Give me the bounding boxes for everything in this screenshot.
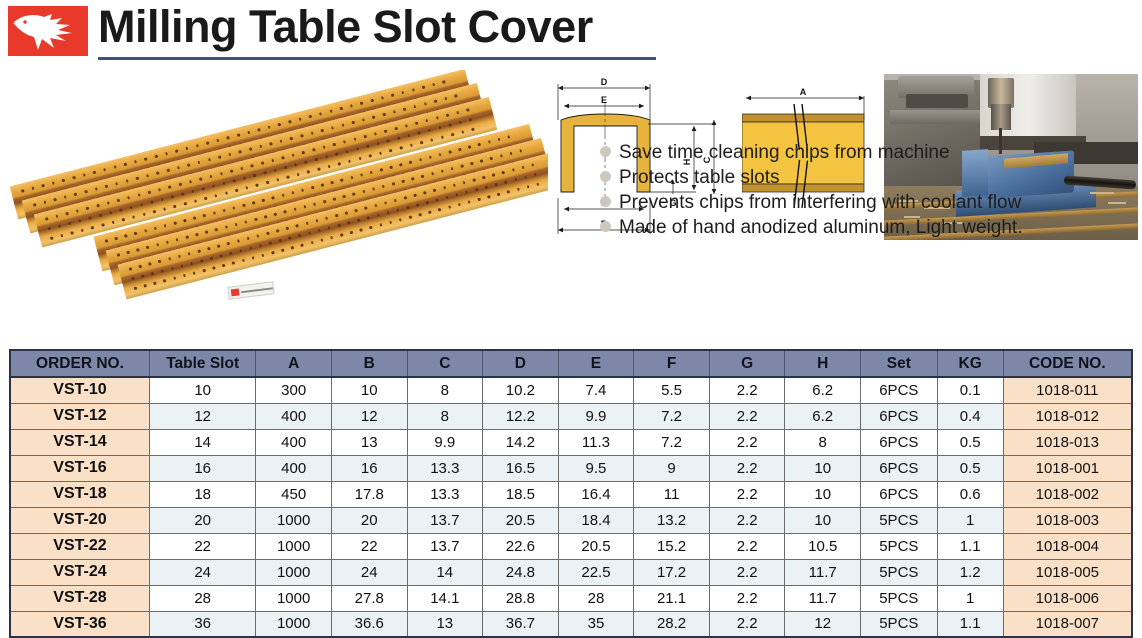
cell-g: 2.2 — [709, 585, 785, 611]
cell-set: 5PCS — [861, 585, 938, 611]
cell-slot: 28 — [149, 585, 255, 611]
cell-kg: 1.2 — [937, 559, 1003, 585]
table-row[interactable]: VST-181845017.813.318.516.4112.2106PCS0.… — [10, 481, 1132, 507]
col-header-c: C — [407, 350, 483, 377]
cell-d: 28.8 — [483, 585, 559, 611]
cell-c: 13 — [407, 611, 483, 637]
list-item: Protects table slots — [600, 167, 1140, 191]
table-row[interactable]: VST-202010002013.720.518.413.22.2105PCS1… — [10, 507, 1132, 533]
cell-e: 9.9 — [558, 403, 634, 429]
cell-set: 6PCS — [861, 429, 938, 455]
cell-set: 6PCS — [861, 403, 938, 429]
cell-a: 450 — [256, 481, 332, 507]
cell-e: 16.4 — [558, 481, 634, 507]
table-row[interactable]: VST-1414400139.914.211.37.22.286PCS0.510… — [10, 429, 1132, 455]
cell-set: 6PCS — [861, 455, 938, 481]
cell-code: 1018-003 — [1003, 507, 1132, 533]
cell-slot: 24 — [149, 559, 255, 585]
col-header-g: G — [709, 350, 785, 377]
specification-table: ORDER NO. Table Slot A B C D E F G H Set… — [9, 349, 1133, 638]
cell-e: 35 — [558, 611, 634, 637]
cell-h: 10.5 — [785, 533, 861, 559]
table-row[interactable]: VST-101030010810.27.45.52.26.26PCS0.1101… — [10, 377, 1132, 403]
cell-code: 1018-013 — [1003, 429, 1132, 455]
feature-text: Save time cleaning chips from machine — [619, 142, 950, 164]
cell-kg: 0.5 — [937, 429, 1003, 455]
cell-g: 2.2 — [709, 403, 785, 429]
cell-a: 400 — [256, 455, 332, 481]
table-row[interactable]: VST-16164001613.316.59.592.2106PCS0.5101… — [10, 455, 1132, 481]
cell-b: 24 — [331, 559, 407, 585]
cell-code: 1018-004 — [1003, 533, 1132, 559]
cell-h: 11.7 — [785, 585, 861, 611]
feature-list: Save time cleaning chips from machine Pr… — [600, 142, 1140, 242]
page-title: Milling Table Slot Cover — [98, 0, 1142, 54]
bullet-dot-icon — [600, 221, 611, 232]
table-row[interactable]: VST-2828100027.814.128.82821.12.211.75PC… — [10, 585, 1132, 611]
cell-g: 2.2 — [709, 507, 785, 533]
feature-text: Made of hand anodized aluminum, Light we… — [619, 217, 1022, 239]
cell-b: 12 — [331, 403, 407, 429]
cell-a: 1000 — [256, 611, 332, 637]
cell-b: 22 — [331, 533, 407, 559]
table-row[interactable]: VST-222210002213.722.620.515.22.210.55PC… — [10, 533, 1132, 559]
cell-code: 1018-007 — [1003, 611, 1132, 637]
title-wrap: Milling Table Slot Cover — [98, 0, 1142, 54]
col-header-d: D — [483, 350, 559, 377]
cell-g: 2.2 — [709, 429, 785, 455]
table-row[interactable]: VST-24241000241424.822.517.22.211.75PCS1… — [10, 559, 1132, 585]
dim-label-D: D — [601, 77, 608, 87]
cell-e: 20.5 — [558, 533, 634, 559]
table-row[interactable]: VST-3636100036.61336.73528.22.2125PCS1.1… — [10, 611, 1132, 637]
cell-code: 1018-005 — [1003, 559, 1132, 585]
cell-b: 17.8 — [331, 481, 407, 507]
cell-c: 13.7 — [407, 507, 483, 533]
cell-a: 400 — [256, 403, 332, 429]
cell-order: VST-24 — [10, 559, 149, 585]
list-item: Save time cleaning chips from machine — [600, 142, 1140, 166]
cell-h: 10 — [785, 455, 861, 481]
cell-g: 2.2 — [709, 533, 785, 559]
bullet-dot-icon — [600, 171, 611, 182]
col-header-e: E — [558, 350, 634, 377]
cell-kg: 0.6 — [937, 481, 1003, 507]
cell-d: 18.5 — [483, 481, 559, 507]
cell-order: VST-18 — [10, 481, 149, 507]
cell-kg: 1.1 — [937, 611, 1003, 637]
hero-product-photo — [0, 70, 548, 338]
cell-f: 13.2 — [634, 507, 710, 533]
cell-f: 9 — [634, 455, 710, 481]
list-item: Prevents chips from interfering with coo… — [600, 192, 1140, 216]
product-sticker — [227, 281, 274, 300]
cell-set: 5PCS — [861, 533, 938, 559]
col-header-b: B — [331, 350, 407, 377]
bullet-dot-icon — [600, 146, 611, 157]
cell-f: 21.1 — [634, 585, 710, 611]
col-header-set: Set — [861, 350, 938, 377]
cell-h: 8 — [785, 429, 861, 455]
cell-c: 9.9 — [407, 429, 483, 455]
cell-slot: 14 — [149, 429, 255, 455]
cell-h: 10 — [785, 507, 861, 533]
cell-a: 1000 — [256, 559, 332, 585]
media-section: D E F B H C G A — [0, 68, 1142, 343]
dim-label-A: A — [800, 87, 807, 97]
cell-b: 10 — [331, 377, 407, 403]
cell-code: 1018-012 — [1003, 403, 1132, 429]
cell-slot: 16 — [149, 455, 255, 481]
cell-d: 36.7 — [483, 611, 559, 637]
cell-slot: 22 — [149, 533, 255, 559]
cell-slot: 18 — [149, 481, 255, 507]
col-header-f: F — [634, 350, 710, 377]
cell-h: 6.2 — [785, 377, 861, 403]
cell-order: VST-16 — [10, 455, 149, 481]
cell-c: 14.1 — [407, 585, 483, 611]
specification-table-wrap: ORDER NO. Table Slot A B C D E F G H Set… — [9, 349, 1133, 638]
eagle-head-logo — [8, 6, 88, 56]
cell-f: 7.2 — [634, 403, 710, 429]
col-header-a: A — [256, 350, 332, 377]
cell-code: 1018-001 — [1003, 455, 1132, 481]
cell-g: 2.2 — [709, 455, 785, 481]
cell-a: 1000 — [256, 585, 332, 611]
cell-g: 2.2 — [709, 481, 785, 507]
col-header-h: H — [785, 350, 861, 377]
cell-c: 13.7 — [407, 533, 483, 559]
cell-h: 12 — [785, 611, 861, 637]
cell-f: 17.2 — [634, 559, 710, 585]
cell-b: 27.8 — [331, 585, 407, 611]
cell-order: VST-28 — [10, 585, 149, 611]
cell-b: 13 — [331, 429, 407, 455]
cell-e: 22.5 — [558, 559, 634, 585]
cell-a: 1000 — [256, 507, 332, 533]
cell-g: 2.2 — [709, 377, 785, 403]
cell-kg: 1 — [937, 507, 1003, 533]
cell-h: 6.2 — [785, 403, 861, 429]
cell-e: 11.3 — [558, 429, 634, 455]
cell-f: 11 — [634, 481, 710, 507]
cell-kg: 0.4 — [937, 403, 1003, 429]
cell-c: 8 — [407, 403, 483, 429]
cell-slot: 10 — [149, 377, 255, 403]
cell-e: 9.5 — [558, 455, 634, 481]
cell-g: 2.2 — [709, 559, 785, 585]
cell-order: VST-14 — [10, 429, 149, 455]
cell-c: 8 — [407, 377, 483, 403]
cell-set: 5PCS — [861, 559, 938, 585]
cell-order: VST-36 — [10, 611, 149, 637]
cell-set: 5PCS — [861, 611, 938, 637]
cell-kg: 1 — [937, 585, 1003, 611]
cell-d: 10.2 — [483, 377, 559, 403]
cell-code: 1018-011 — [1003, 377, 1132, 403]
cell-e: 18.4 — [558, 507, 634, 533]
cell-a: 1000 — [256, 533, 332, 559]
cell-order: VST-10 — [10, 377, 149, 403]
cell-code: 1018-002 — [1003, 481, 1132, 507]
cell-kg: 0.1 — [937, 377, 1003, 403]
cell-c: 14 — [407, 559, 483, 585]
col-header-code-no: CODE NO. — [1003, 350, 1132, 377]
cell-f: 28.2 — [634, 611, 710, 637]
col-header-table-slot: Table Slot — [149, 350, 255, 377]
cell-slot: 12 — [149, 403, 255, 429]
cell-order: VST-22 — [10, 533, 149, 559]
cell-h: 11.7 — [785, 559, 861, 585]
col-header-kg: KG — [937, 350, 1003, 377]
cell-code: 1018-006 — [1003, 585, 1132, 611]
cell-slot: 20 — [149, 507, 255, 533]
cell-kg: 0.5 — [937, 455, 1003, 481]
cell-a: 400 — [256, 429, 332, 455]
page-header: Milling Table Slot Cover — [0, 0, 1142, 68]
cell-f: 15.2 — [634, 533, 710, 559]
cell-f: 5.5 — [634, 377, 710, 403]
cell-order: VST-20 — [10, 507, 149, 533]
cell-d: 16.5 — [483, 455, 559, 481]
cell-d: 12.2 — [483, 403, 559, 429]
dim-label-E: E — [601, 95, 607, 105]
cell-d: 14.2 — [483, 429, 559, 455]
cell-h: 10 — [785, 481, 861, 507]
cell-c: 13.3 — [407, 481, 483, 507]
feature-text: Protects table slots — [619, 167, 780, 189]
cell-set: 6PCS — [861, 377, 938, 403]
cell-set: 6PCS — [861, 481, 938, 507]
cell-d: 20.5 — [483, 507, 559, 533]
cell-e: 28 — [558, 585, 634, 611]
cell-f: 7.2 — [634, 429, 710, 455]
title-underline — [98, 57, 656, 60]
cell-kg: 1.1 — [937, 533, 1003, 559]
cell-set: 5PCS — [861, 507, 938, 533]
cell-b: 36.6 — [331, 611, 407, 637]
cell-d: 22.6 — [483, 533, 559, 559]
bullet-dot-icon — [600, 196, 611, 207]
cell-c: 13.3 — [407, 455, 483, 481]
cell-e: 7.4 — [558, 377, 634, 403]
cell-b: 20 — [331, 507, 407, 533]
table-row[interactable]: VST-121240012812.29.97.22.26.26PCS0.4101… — [10, 403, 1132, 429]
feature-text: Prevents chips from interfering with coo… — [619, 192, 1021, 214]
list-item: Made of hand anodized aluminum, Light we… — [600, 217, 1140, 241]
cell-g: 2.2 — [709, 611, 785, 637]
cell-a: 300 — [256, 377, 332, 403]
cell-slot: 36 — [149, 611, 255, 637]
cell-order: VST-12 — [10, 403, 149, 429]
col-header-order-no: ORDER NO. — [10, 350, 149, 377]
cell-b: 16 — [331, 455, 407, 481]
table-header-row: ORDER NO. Table Slot A B C D E F G H Set… — [10, 350, 1132, 377]
cell-d: 24.8 — [483, 559, 559, 585]
